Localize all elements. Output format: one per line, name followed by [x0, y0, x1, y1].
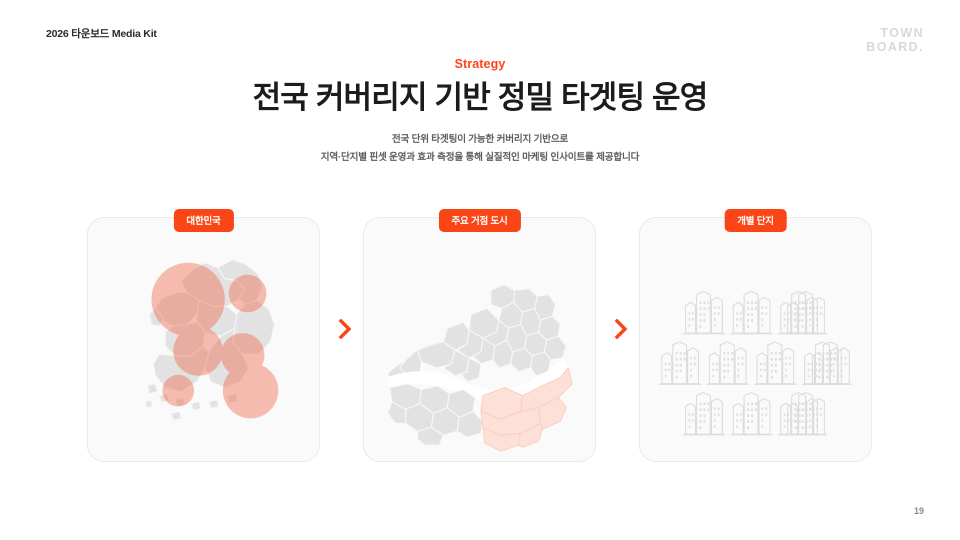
coverage-bubble-busan — [223, 363, 279, 419]
building-cluster — [706, 342, 749, 384]
page-title: 전국 커버리지 기반 정밀 타겟팅 운영 — [0, 79, 960, 117]
building-cluster — [683, 291, 726, 333]
chevron-right-icon — [614, 319, 628, 339]
highlighted-district-group — [481, 368, 572, 451]
chevron-right-icon — [338, 319, 352, 339]
building-cluster — [659, 342, 702, 384]
card-individual-complex[interactable]: 개별 단지 — [639, 217, 872, 462]
brand-logo-line1: TOWN — [866, 26, 924, 40]
coverage-bubble-seoul — [151, 263, 224, 336]
brand-logo: TOWN BOARD. — [866, 26, 924, 54]
korea-coverage-map-icon — [88, 236, 319, 462]
building-cluster — [730, 291, 773, 333]
coverage-bubble-daejeon — [173, 326, 223, 376]
building-cluster — [754, 342, 797, 384]
apartment-complex-grid-icon — [640, 236, 871, 462]
building-cluster — [683, 393, 726, 435]
seoul-district-map-icon — [364, 236, 595, 462]
title-block: Strategy 전국 커버리지 기반 정밀 타겟팅 운영 전국 단위 타겟팅이… — [0, 57, 960, 166]
brand-logo-line2: BOARD. — [866, 40, 924, 54]
card-key-cities[interactable]: 주요 거점 도시 — [363, 217, 596, 462]
page-subtitle-line-1: 전국 단위 타겟팅이 가능한 커버리지 기반으로 — [0, 131, 960, 149]
coverage-bubble-gwangju — [162, 375, 194, 407]
card-badge-key-cities: 주요 거점 도시 — [438, 209, 520, 232]
flow-arrow-2 — [608, 316, 634, 342]
building-cluster — [730, 393, 773, 435]
flow-arrow-1 — [332, 316, 358, 342]
card-nationwide[interactable]: 대한민국 — [87, 217, 320, 462]
coverage-cards-row: 대한민국 — [0, 217, 960, 467]
document-label: 2026 타운보드 Media Kit — [46, 26, 157, 41]
card-badge-nationwide: 대한민국 — [173, 209, 233, 232]
card-badge-individual-complex: 개별 단지 — [724, 209, 787, 232]
coverage-bubble-gangwon — [229, 275, 267, 313]
section-eyebrow: Strategy — [0, 57, 960, 71]
page-subtitle: 전국 단위 타겟팅이 가능한 커버리지 기반으로 지역·단지별 핀셋 운영과 효… — [0, 131, 960, 166]
page-subtitle-line-2: 지역·단지별 핀셋 운영과 효과 측정을 통해 실질적인 마케팅 인사이트를 제… — [0, 149, 960, 167]
page-number: 19 — [914, 506, 924, 516]
